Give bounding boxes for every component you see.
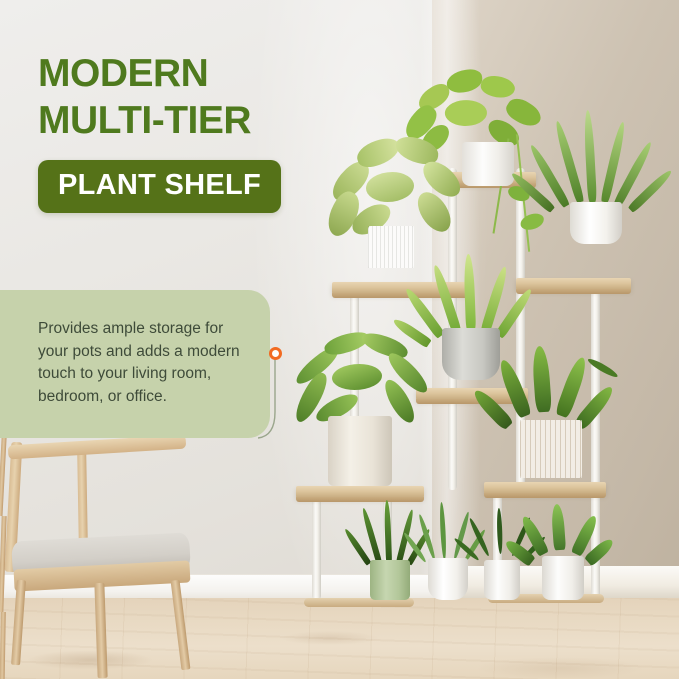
calathea-plant [496,346,616,496]
white-round-pot [462,142,514,186]
leaf [332,364,382,390]
shelf-post [312,490,321,600]
headline-line-2: MULTI-TIER [38,97,338,144]
birds-nest-fern [524,504,608,600]
leaf [463,254,476,330]
white-small-pot [428,558,468,600]
white-small-pot [484,560,520,600]
aglaonema-plant [292,330,432,490]
leaf [439,502,447,560]
leaf [366,172,414,202]
cream-ribbed-pot [520,420,582,478]
leaf [444,99,488,128]
chair-leg [11,580,26,665]
leaf [583,110,597,202]
leaf [496,508,503,554]
leaf [445,68,484,95]
plant-shelf-badge: PLANT SHELF [38,160,281,213]
headline-line-1: MODERN [38,50,338,97]
white-fluted-pot [368,226,414,268]
pot-ribs [368,226,414,268]
pot-ribs [520,420,582,478]
leaf [384,500,392,562]
chair-leg [171,580,191,670]
leaf [479,72,517,102]
white-small-pot [542,556,584,600]
chair-top-rail [8,435,187,460]
sage-green-pot [370,560,410,600]
chair-leg [94,583,107,678]
feature-callout-box: Provides ample storage for your pots and… [0,290,270,438]
cream-cylinder-pot [328,416,392,486]
wooden-spindle-chair [0,420,215,660]
page-headline: MODERN MULTI-TIER [38,50,338,144]
white-tapered-pot [570,202,622,244]
leaf [354,134,403,170]
product-marketing-image: MODERN MULTI-TIER PLANT SHELF Provides a… [0,0,679,679]
leaf [586,356,619,379]
snake-plant-tall [540,110,660,290]
feature-callout-text: Provides ample storage for your pots and… [38,318,240,408]
grey-ceramic-pot [442,328,500,380]
callout-marker-dot [269,347,282,360]
leaf [551,504,566,551]
leaf [531,346,552,413]
